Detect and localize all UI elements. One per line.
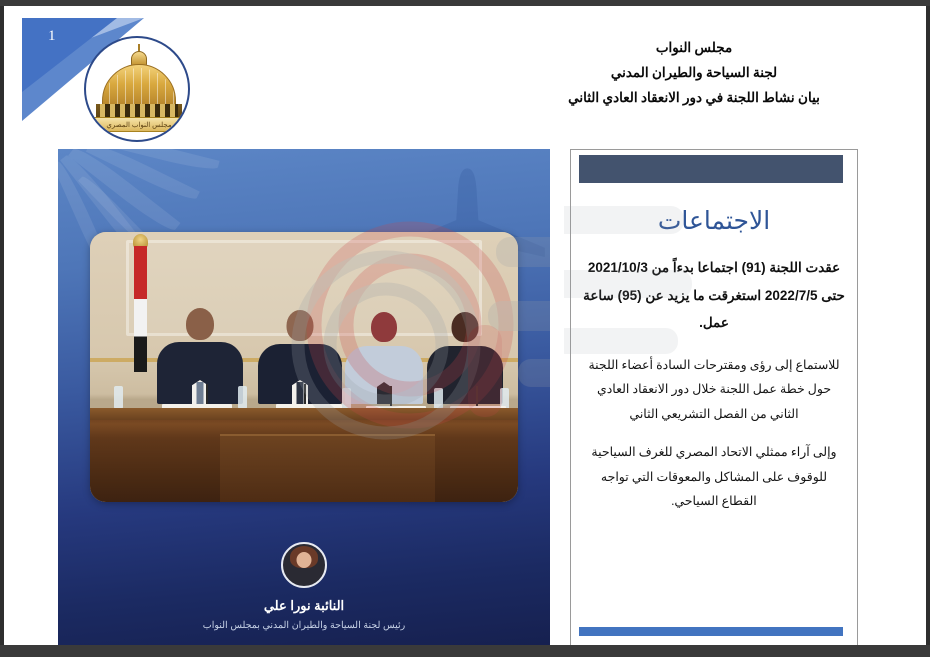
photo-caption: النائبة نورا علي رئيس لجنة السياحة والطي…: [58, 542, 550, 645]
person-tie: [297, 382, 304, 404]
egyptian-flag-icon: [134, 246, 147, 372]
person-head: [186, 308, 214, 340]
document-header: مجلس النواب لجنة السياحة والطيران المدني…: [474, 40, 914, 106]
page-edge-right: [926, 6, 930, 645]
header-line-committee: لجنة السياحة والطيران المدني: [474, 65, 914, 81]
section-paragraph: للاستماع إلى رؤى ومقترحات السادة أعضاء ا…: [583, 353, 845, 426]
document-page: 1 مجلس النواب المصري مجلس النواب لجنة ال…: [4, 6, 926, 645]
header-line-statement: بيان نشاط اللجنة في دور الانعقاد العادي …: [474, 90, 914, 106]
photo-person: [342, 312, 426, 404]
committee-desk-panel: [220, 434, 435, 502]
water-bottle-icon: [114, 386, 123, 410]
section-title: الاجتماعات: [583, 206, 845, 236]
photo-person: [154, 308, 246, 404]
photo-person: [254, 310, 346, 404]
panel-header-bar: [579, 155, 843, 183]
section-lead-statistics: عقدت اللجنة (91) اجتماعا بدءاً من 2021/1…: [583, 254, 845, 337]
right-text-panel: الاجتماعات عقدت اللجنة (91) اجتماعا بدءا…: [570, 149, 858, 645]
avatar-face: [297, 552, 312, 568]
seal-ribbon-text: مجلس النواب المصري: [90, 117, 188, 132]
panel-footer-bar: [579, 627, 843, 636]
section-paragraph: وإلى آراء ممثلي الاتحاد المصري للغرف الس…: [583, 440, 845, 513]
left-visual-panel: النائبة نورا علي رئيس لجنة السياحة والطي…: [58, 149, 550, 645]
caption-name: النائبة نورا علي: [58, 598, 550, 614]
person-head: [452, 312, 479, 342]
avatar: [281, 542, 327, 588]
person-head: [287, 310, 314, 341]
person-head: [371, 312, 397, 342]
parliament-seal-icon: مجلس النواب المصري: [84, 36, 190, 142]
panel-content: الاجتماعات عقدت اللجنة (91) اجتماعا بدءا…: [583, 206, 845, 527]
committee-meeting-photo: [90, 232, 518, 502]
caption-role: رئيس لجنة السياحة والطيران المدني بمجلس …: [58, 620, 550, 645]
committee-desk-edge: [90, 408, 518, 420]
page-number: 1: [48, 28, 56, 45]
water-bottle-icon: [238, 386, 247, 410]
header-line-council: مجلس النواب: [474, 40, 914, 56]
screenshot-viewport: 1 مجلس النواب المصري مجلس النواب لجنة ال…: [0, 0, 930, 657]
person-tie: [197, 382, 204, 404]
